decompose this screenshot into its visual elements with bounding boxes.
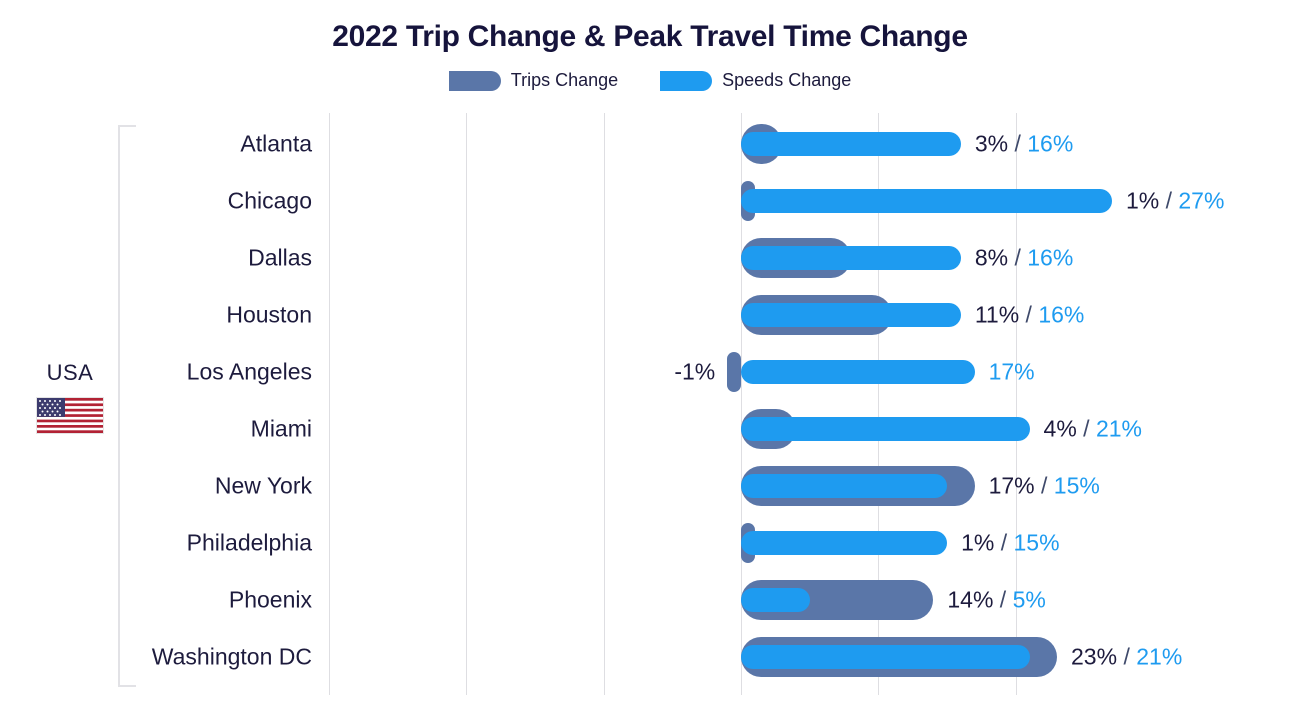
bar-speeds-change[interactable] (741, 531, 947, 555)
value-separator: / (993, 586, 1012, 612)
category-label: Houston (0, 301, 312, 328)
category-label: Phoenix (0, 586, 312, 613)
bar-row: Miami4% / 21% (0, 400, 1300, 457)
value-speeds: 15% (1054, 472, 1100, 498)
value-label: 4% / 21% (1044, 415, 1142, 442)
bar-speeds-change[interactable] (741, 132, 961, 156)
value-label: 1% / 27% (1126, 187, 1224, 214)
bar-row: New York17% / 15% (0, 457, 1300, 514)
legend-item-trips-change[interactable]: Trips Change (449, 70, 618, 91)
legend-label: Trips Change (511, 70, 618, 91)
bar-speeds-change[interactable] (741, 303, 961, 327)
value-label: 8% / 16% (975, 244, 1073, 271)
bar-speeds-change[interactable] (741, 417, 1030, 441)
category-label: Los Angeles (0, 358, 312, 385)
category-label: Philadelphia (0, 529, 312, 556)
value-label-speeds: 17% (989, 358, 1035, 385)
bar-row: Philadelphia1% / 15% (0, 514, 1300, 571)
value-separator: / (1117, 643, 1136, 669)
value-trips: -1% (674, 358, 715, 384)
value-trips: 1% (961, 529, 994, 555)
value-separator: / (994, 529, 1013, 555)
bar-row: Atlanta3% / 16% (0, 115, 1300, 172)
value-trips: 8% (975, 244, 1008, 270)
bar-row: Dallas8% / 16% (0, 229, 1300, 286)
value-speeds: 15% (1014, 529, 1060, 555)
value-trips: 4% (1044, 415, 1077, 441)
chart-container: 2022 Trip Change & Peak Travel Time Chan… (0, 0, 1300, 707)
value-label: 23% / 21% (1071, 643, 1182, 670)
category-label: Chicago (0, 187, 312, 214)
plot-area: Atlanta3% / 16%Chicago1% / 27%Dallas8% /… (0, 113, 1300, 695)
value-trips: 14% (947, 586, 993, 612)
value-label-trips: -1% (674, 358, 715, 385)
bar-speeds-change[interactable] (741, 588, 810, 612)
bar-row: Washington DC23% / 21% (0, 628, 1300, 685)
bar-speeds-change[interactable] (741, 474, 947, 498)
value-speeds: 16% (1027, 130, 1073, 156)
value-label: 3% / 16% (975, 130, 1073, 157)
value-separator: / (1035, 472, 1054, 498)
value-trips: 17% (989, 472, 1035, 498)
value-trips: 1% (1126, 187, 1159, 213)
value-trips: 11% (975, 301, 1019, 327)
value-separator: / (1019, 301, 1038, 327)
legend-item-speeds-change[interactable]: Speeds Change (660, 70, 851, 91)
value-speeds: 5% (1013, 586, 1046, 612)
bar-row: Los Angeles-1%17% (0, 343, 1300, 400)
value-separator: / (1008, 244, 1027, 270)
legend-swatch-icon (660, 71, 712, 91)
value-speeds: 16% (1027, 244, 1073, 270)
value-label: 14% / 5% (947, 586, 1045, 613)
bar-speeds-change[interactable] (741, 645, 1030, 669)
chart-legend: Trips ChangeSpeeds Change (0, 70, 1300, 91)
bar-trips-change[interactable] (727, 352, 741, 392)
bar-rows: Atlanta3% / 16%Chicago1% / 27%Dallas8% /… (0, 113, 1300, 695)
value-speeds: 21% (1096, 415, 1142, 441)
category-label: Washington DC (0, 643, 312, 670)
category-label: Atlanta (0, 130, 312, 157)
value-speeds: 17% (989, 358, 1035, 384)
bar-row: Houston11% / 16% (0, 286, 1300, 343)
value-label: 11% / 16% (975, 301, 1085, 328)
category-label: Dallas (0, 244, 312, 271)
value-speeds: 21% (1136, 643, 1182, 669)
bar-speeds-change[interactable] (741, 360, 975, 384)
value-separator: / (1008, 130, 1027, 156)
chart-title: 2022 Trip Change & Peak Travel Time Chan… (0, 20, 1300, 54)
bar-speeds-change[interactable] (741, 189, 1112, 213)
value-speeds: 27% (1178, 187, 1224, 213)
category-label: Miami (0, 415, 312, 442)
value-label: 1% / 15% (961, 529, 1059, 556)
value-trips: 3% (975, 130, 1008, 156)
bar-speeds-change[interactable] (741, 246, 961, 270)
value-separator: / (1159, 187, 1178, 213)
legend-label: Speeds Change (722, 70, 851, 91)
value-trips: 23% (1071, 643, 1117, 669)
bar-row: Phoenix14% / 5% (0, 571, 1300, 628)
value-label: 17% / 15% (989, 472, 1100, 499)
legend-swatch-icon (449, 71, 501, 91)
value-separator: / (1077, 415, 1096, 441)
bar-row: Chicago1% / 27% (0, 172, 1300, 229)
value-speeds: 16% (1038, 301, 1084, 327)
category-label: New York (0, 472, 312, 499)
